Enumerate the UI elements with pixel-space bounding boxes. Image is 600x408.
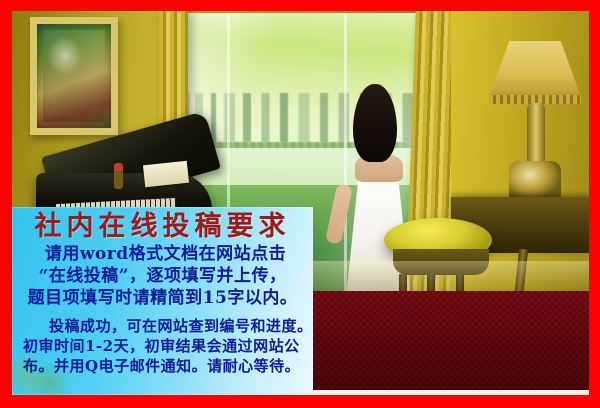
poster-frame: 社内在线投稿要求 请用word格式文档在网站点击 “在线投稿”，逐项填写并上传，…: [0, 0, 600, 408]
notice-line: 布。并用Q电子邮件通知。请耐心等待。: [23, 357, 306, 377]
flower-vase: [114, 163, 123, 189]
notice-line: 投稿成功，可在网站查到编号和进度。: [23, 317, 306, 337]
hair: [353, 84, 397, 162]
notice-line: 初审时间1-2天，初审结果会通过网站公: [23, 337, 306, 357]
lamp-stem: [527, 103, 545, 167]
notice-line-text: 投稿成功，可在网站查到编号和进度。: [49, 317, 313, 335]
notice-line: 请用word格式文档在网站点击: [19, 244, 306, 266]
framed-artwork: [30, 17, 118, 135]
lamp-shade: [489, 41, 581, 97]
notice-paragraph-1: 请用word格式文档在网站点击 “在线投稿”，逐项填写并上传， 题目项填写时请精…: [19, 244, 306, 309]
music-sheet: [143, 161, 189, 187]
notice-panel: 社内在线投稿要求 请用word格式文档在网站点击 “在线投稿”，逐项填写并上传，…: [12, 207, 313, 395]
notice-line: 题目项填写时请精简到15字以内。: [19, 288, 306, 310]
notice-title: 社内在线投稿要求: [12, 211, 313, 242]
notice-paragraph-2: 投稿成功，可在网站查到编号和进度。 初审时间1-2天，初审结果会通过网站公 布。…: [19, 317, 306, 376]
lamp-base: [509, 161, 561, 201]
notice-line: “在线投稿”，逐项填写并上传，: [19, 266, 306, 288]
notice-body: 请用word格式文档在网站点击 “在线投稿”，逐项填写并上传， 题目项填写时请精…: [19, 244, 306, 377]
arm: [325, 183, 353, 245]
